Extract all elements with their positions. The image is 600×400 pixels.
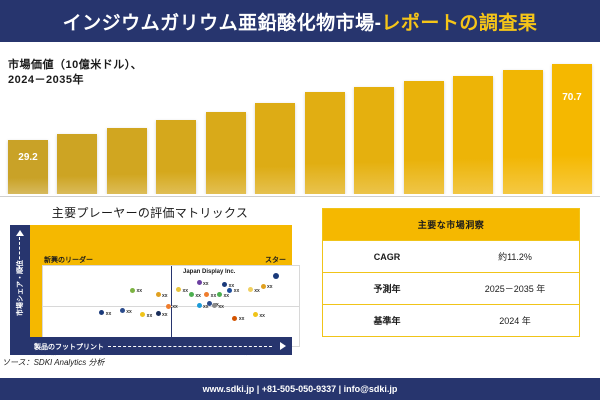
insights-row-key: 予測年 (323, 273, 452, 305)
matrix-player-dot (261, 284, 266, 289)
matrix-player-label: xx (162, 293, 168, 299)
matrix-player-label: xx (211, 293, 217, 299)
matrix-player-label: xx (203, 281, 209, 287)
matrix-player-label: xx (195, 293, 201, 299)
matrix-player-dot (197, 303, 202, 308)
chart-bar (255, 103, 295, 194)
matrix-player-dot (140, 312, 145, 317)
matrix-player-label: xx (106, 311, 112, 317)
key-insights-panel: 主要な市場洞察 CAGR約11.2%予測年2025－2035 年基準年2024 … (300, 198, 600, 370)
chart-bar-group (503, 56, 543, 194)
matrix-player-dot (204, 292, 209, 297)
page-title: インジウムガリウム亜鉛酸化物市場-レポートの調査果 (63, 8, 538, 35)
chart-bar (354, 87, 394, 194)
matrix-player-dot (166, 304, 171, 309)
matrix-x-axis-label: 製品のフットプリント (34, 342, 104, 352)
matrix-y-axis: 市場シェア・順位 (10, 225, 30, 355)
chart-bar-group (206, 56, 246, 194)
key-insights-table: 主要な市場洞察 CAGR約11.2%予測年2025－2035 年基準年2024 … (322, 208, 580, 337)
matrix-player-label: xx (239, 316, 245, 322)
chart-bar (57, 134, 97, 194)
chart-bar-group (404, 56, 444, 194)
matrix-player-label: xx (162, 312, 168, 318)
matrix-x-axis: 製品のフットプリント (10, 337, 292, 355)
chart-bar-value-label: 29.2 (8, 152, 48, 163)
matrix-player-label: xx (223, 293, 229, 299)
chart-bar: 29.2 (8, 140, 48, 194)
matrix-player-label: xx (259, 313, 265, 319)
chart-bar (453, 76, 493, 194)
matrix-player-dot (248, 287, 253, 292)
matrix-player-label: xx (126, 309, 132, 315)
x-axis-arrow-icon (280, 342, 286, 350)
chart-bar-group (156, 56, 196, 194)
matrix-horizontal-divider (43, 306, 299, 307)
highlighted-player-label: Japan Display Inc. (183, 269, 235, 275)
x-axis-dashed-line (108, 346, 272, 347)
matrix-player-label: xx (267, 284, 273, 290)
insights-row: CAGR約11.2% (323, 241, 580, 273)
matrix-player-dot (120, 308, 125, 313)
insights-row-key: CAGR (323, 241, 452, 273)
quadrant-label-stars: スター (265, 255, 286, 265)
chart-bar: 70.7 (552, 64, 592, 194)
matrix-player-label: xx (172, 304, 178, 310)
matrix-player-dot (217, 292, 222, 297)
insights-row-value: 2025－2035 年 (451, 273, 580, 305)
chart-plot-area: 29.270.7 (8, 56, 592, 194)
footer-contact: www.sdki.jp | +81-505-050-9337 | info@sd… (203, 384, 398, 394)
chart-bar (404, 81, 444, 194)
chart-bar (107, 128, 147, 194)
matrix-player-dot (156, 311, 161, 316)
matrix-player-label: xx (183, 288, 189, 294)
matrix-player-label: xx (234, 288, 240, 294)
matrix-scatter-area: Japan Display Inc. xxxxxxxxxxxxxxxxxxxxx… (42, 265, 300, 347)
matrix-player-dot (99, 310, 104, 315)
matrix-player-label: xx (218, 304, 224, 310)
matrix-player-dot (130, 288, 135, 293)
matrix-player-dot (232, 316, 237, 321)
insights-row-key: 基準年 (323, 305, 452, 337)
chart-bar (503, 70, 543, 194)
chart-bar-group (354, 56, 394, 194)
page-title-accent: レポートの調査果 (381, 13, 537, 34)
highlighted-player-dot (273, 273, 279, 279)
chart-bar-group: 29.2 (8, 56, 48, 194)
page-header: インジウムガリウム亜鉛酸化物市場-レポートの調査果 (0, 0, 600, 42)
page-footer: www.sdki.jp | +81-505-050-9337 | info@sd… (0, 378, 600, 400)
chart-bar-group: 70.7 (552, 56, 592, 194)
chart-bar-value-label: 70.7 (552, 92, 592, 103)
chart-divider (0, 196, 600, 197)
insights-header-row: 主要な市場洞察 (323, 209, 580, 241)
page-title-main: インジウムガリウム亜鉛酸化物市場- (63, 13, 382, 34)
insights-row: 予測年2025－2035 年 (323, 273, 580, 305)
market-value-chart: 市場価値（10億米ドル）、2024－2035年 29.270.7 2024年20… (0, 42, 600, 194)
chart-bar-group (305, 56, 345, 194)
insights-row: 基準年2024 年 (323, 305, 580, 337)
chart-bar-group (255, 56, 295, 194)
matrix-player-label: xx (136, 288, 142, 294)
matrix-title: 主要プレーヤーの評価マトリックス (0, 204, 300, 221)
matrix-player-dot (197, 280, 202, 285)
matrix-player-label: xx (147, 313, 153, 319)
matrix-player-dot (212, 303, 217, 308)
matrix-player-dot (176, 287, 181, 292)
matrix-player-dot (156, 292, 161, 297)
matrix-player-label: xx (254, 288, 260, 294)
chart-bar-group (57, 56, 97, 194)
matrix-source-note: ソース：SDKI Analytics 分析 (2, 357, 104, 368)
chart-bar (206, 112, 246, 194)
insights-row-value: 約11.2% (451, 241, 580, 273)
matrix-quadrant-frame: 新興のリーダー スター 参加者 普及プレーヤー Japan Display In… (10, 225, 292, 337)
player-matrix-panel: 主要プレーヤーの評価マトリックス 新興のリーダー スター 参加者 普及プレーヤー… (0, 198, 300, 370)
matrix-player-dot (222, 282, 227, 287)
chart-bar (156, 120, 196, 194)
matrix-y-axis-label: 市場シェア・順位 (15, 222, 25, 354)
chart-bar-group (453, 56, 493, 194)
quadrant-label-emerging-leaders: 新興のリーダー (44, 255, 93, 265)
matrix-player-dot (227, 288, 232, 293)
chart-bar (305, 92, 345, 194)
matrix-player-dot (189, 292, 194, 297)
insights-row-value: 2024 年 (451, 305, 580, 337)
matrix-player-dot (253, 312, 258, 317)
insights-header: 主要な市場洞察 (323, 209, 580, 241)
chart-bar-group (107, 56, 147, 194)
